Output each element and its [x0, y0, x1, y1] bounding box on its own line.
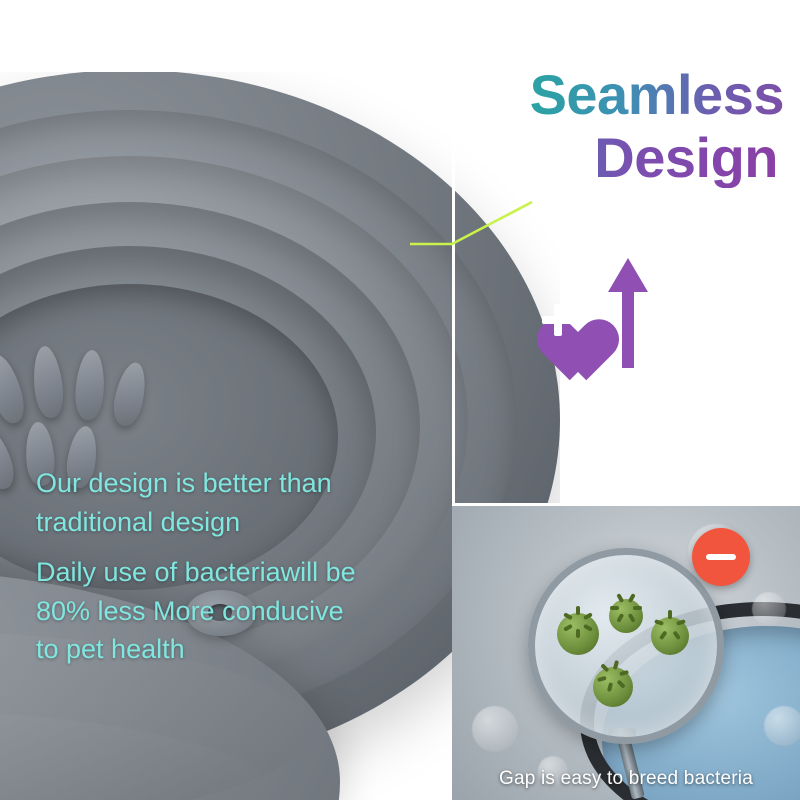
background-microbe-blob — [764, 706, 800, 746]
feature-copy-block: Our design is better than traditional de… — [36, 466, 446, 671]
bacteria-cell — [557, 613, 599, 655]
bacteria-cell — [651, 617, 689, 655]
marketing-image-canvas: Gap is easy to breed bacteria Seamless D… — [0, 0, 800, 800]
bacteria-cell — [593, 667, 633, 707]
bacteria-photo-panel: Gap is easy to breed bacteria — [452, 506, 800, 800]
headline-line-1: Seamless — [530, 63, 784, 126]
plus-glyph — [520, 290, 596, 362]
arrow-up-icon — [606, 258, 650, 368]
background-microbe-blob — [472, 706, 518, 752]
bacteria-caption: Gap is easy to breed bacteria — [452, 768, 800, 790]
copy-line-3: Daily use of bacteriawill be — [36, 555, 446, 590]
copy-line-1: Our design is better than — [36, 466, 446, 501]
background-microbe-blob — [752, 592, 786, 626]
heart-plus-icon — [520, 290, 596, 362]
page-title: Seamless Design — [372, 66, 784, 188]
photo-top-white-margin — [0, 0, 560, 72]
copy-line-4: 80% less More conducive — [36, 594, 446, 629]
copy-line-5: to pet health — [36, 632, 446, 667]
bacteria-cell — [609, 599, 643, 633]
copy-line-2: traditional design — [36, 505, 446, 540]
headline-line-2: Design — [372, 129, 778, 188]
magnifying-glass-icon — [528, 548, 724, 744]
minus-badge-icon — [692, 528, 750, 586]
